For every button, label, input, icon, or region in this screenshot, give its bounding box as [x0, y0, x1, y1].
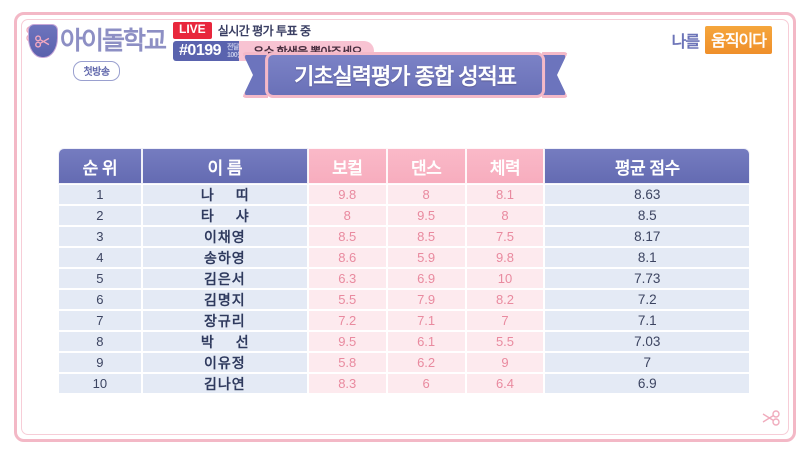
- cell-vocal: 8.3: [308, 373, 387, 394]
- table-row: 7장규리7.27.177.1: [58, 310, 750, 331]
- cell-vocal: 8.5: [308, 226, 387, 247]
- ribbon-body: 기초실력평가 종합 성적표: [265, 52, 545, 98]
- cell-rank: 7: [58, 310, 142, 331]
- cell-vocal: 5.8: [308, 352, 387, 373]
- cell-fitness: 8.2: [466, 289, 545, 310]
- cell-fitness: 9.8: [466, 247, 545, 268]
- cell-average: 7.2: [544, 289, 750, 310]
- cell-dance: 7.9: [387, 289, 466, 310]
- table-header-row: 순 위 이 름 보컬 댄스 체력 평균 점수: [58, 148, 750, 184]
- cell-average: 7: [544, 352, 750, 373]
- cell-name: 장규리: [142, 310, 308, 331]
- table-body: 1나 띠9.888.18.632타 샤89.588.53이채영8.58.57.5…: [58, 184, 750, 394]
- cell-name: 이채영: [142, 226, 308, 247]
- cell-rank: 8: [58, 331, 142, 352]
- table-row: 9이유정5.86.297: [58, 352, 750, 373]
- slogan-part-one: 나를: [672, 28, 699, 52]
- cell-dance: 8: [387, 184, 466, 205]
- cell-name: 김나연: [142, 373, 308, 394]
- ribbon-tail-right: [542, 52, 568, 98]
- table-row: 8박 선9.56.15.57.03: [58, 331, 750, 352]
- cell-average: 8.5: [544, 205, 750, 226]
- live-subtitle: 실시간 평가 투표 중: [218, 22, 311, 39]
- cell-name: 박 선: [142, 331, 308, 352]
- slogan-part-two: 움직이다: [705, 26, 772, 54]
- cell-average: 7.1: [544, 310, 750, 331]
- cell-vocal: 8: [308, 205, 387, 226]
- column-header-vocal: 보컬: [308, 148, 387, 184]
- cell-dance: 5.9: [387, 247, 466, 268]
- cell-vocal: 8.6: [308, 247, 387, 268]
- cell-vocal: 6.3: [308, 268, 387, 289]
- cell-average: 7.73: [544, 268, 750, 289]
- cell-average: 8.1: [544, 247, 750, 268]
- cell-fitness: 8: [466, 205, 545, 226]
- cell-name: 송하영: [142, 247, 308, 268]
- cell-vocal: 9.5: [308, 331, 387, 352]
- cell-average: 8.63: [544, 184, 750, 205]
- column-header-name: 이 름: [142, 148, 308, 184]
- title-banner: 기초실력평가 종합 성적표: [242, 52, 568, 98]
- cell-rank: 5: [58, 268, 142, 289]
- cell-fitness: 7.5: [466, 226, 545, 247]
- column-header-dance: 댄스: [387, 148, 466, 184]
- cell-vocal: 9.8: [308, 184, 387, 205]
- broadcast-overlay: 아이돌학교 첫방송 LIVE 실시간 평가 투표 중 #0199 전달 100원…: [0, 0, 810, 456]
- table-row: 5김은서6.36.9107.73: [58, 268, 750, 289]
- shield-emblem-icon: [28, 24, 58, 58]
- cell-dance: 6.9: [387, 268, 466, 289]
- cell-dance: 6.2: [387, 352, 466, 373]
- cell-dance: 7.1: [387, 310, 466, 331]
- cell-average: 6.9: [544, 373, 750, 394]
- results-table-container: 순 위 이 름 보컬 댄스 체력 평균 점수 1나 띠9.888.18.632타…: [58, 148, 750, 394]
- first-broadcast-badge: 첫방송: [73, 61, 119, 81]
- cell-name: 이유정: [142, 352, 308, 373]
- show-logo: 아이돌학교 첫방송: [28, 24, 165, 81]
- cell-fitness: 7: [466, 310, 545, 331]
- show-slogan: 나를 움직이다: [672, 26, 772, 54]
- cell-name: 타 샤: [142, 205, 308, 226]
- results-table: 순 위 이 름 보컬 댄스 체력 평균 점수 1나 띠9.888.18.632타…: [58, 148, 750, 394]
- cell-fitness: 6.4: [466, 373, 545, 394]
- cell-name: 김명지: [142, 289, 308, 310]
- cell-fitness: 9: [466, 352, 545, 373]
- cell-rank: 1: [58, 184, 142, 205]
- cell-fitness: 8.1: [466, 184, 545, 205]
- scissors-emblem-icon: [758, 410, 780, 426]
- table-row: 1나 띠9.888.18.63: [58, 184, 750, 205]
- page-title: 기초실력평가 종합 성적표: [294, 59, 516, 91]
- table-row: 10김나연8.366.46.9: [58, 373, 750, 394]
- cell-vocal: 5.5: [308, 289, 387, 310]
- cell-rank: 10: [58, 373, 142, 394]
- cell-vocal: 7.2: [308, 310, 387, 331]
- vote-number: #0199: [173, 41, 227, 61]
- live-badge: LIVE: [173, 22, 212, 38]
- table-row: 3이채영8.58.57.58.17: [58, 226, 750, 247]
- cell-dance: 8.5: [387, 226, 466, 247]
- scissors-emblem-icon: [35, 35, 52, 48]
- cell-fitness: 10: [466, 268, 545, 289]
- cell-rank: 9: [58, 352, 142, 373]
- column-header-fitness: 체력: [466, 148, 545, 184]
- column-header-average: 평균 점수: [544, 148, 750, 184]
- cell-fitness: 5.5: [466, 331, 545, 352]
- cell-average: 7.03: [544, 331, 750, 352]
- cell-name: 김은서: [142, 268, 308, 289]
- cell-dance: 6: [387, 373, 466, 394]
- show-logo-text: 아이돌학교: [60, 24, 165, 58]
- cell-rank: 4: [58, 247, 142, 268]
- table-row: 4송하영8.65.99.88.1: [58, 247, 750, 268]
- cell-rank: 3: [58, 226, 142, 247]
- column-header-rank: 순 위: [58, 148, 142, 184]
- cell-rank: 2: [58, 205, 142, 226]
- table-row: 2타 샤89.588.5: [58, 205, 750, 226]
- cell-dance: 6.1: [387, 331, 466, 352]
- cell-average: 8.17: [544, 226, 750, 247]
- cell-name: 나 띠: [142, 184, 308, 205]
- table-row: 6김명지5.57.98.27.2: [58, 289, 750, 310]
- cell-rank: 6: [58, 289, 142, 310]
- cell-dance: 9.5: [387, 205, 466, 226]
